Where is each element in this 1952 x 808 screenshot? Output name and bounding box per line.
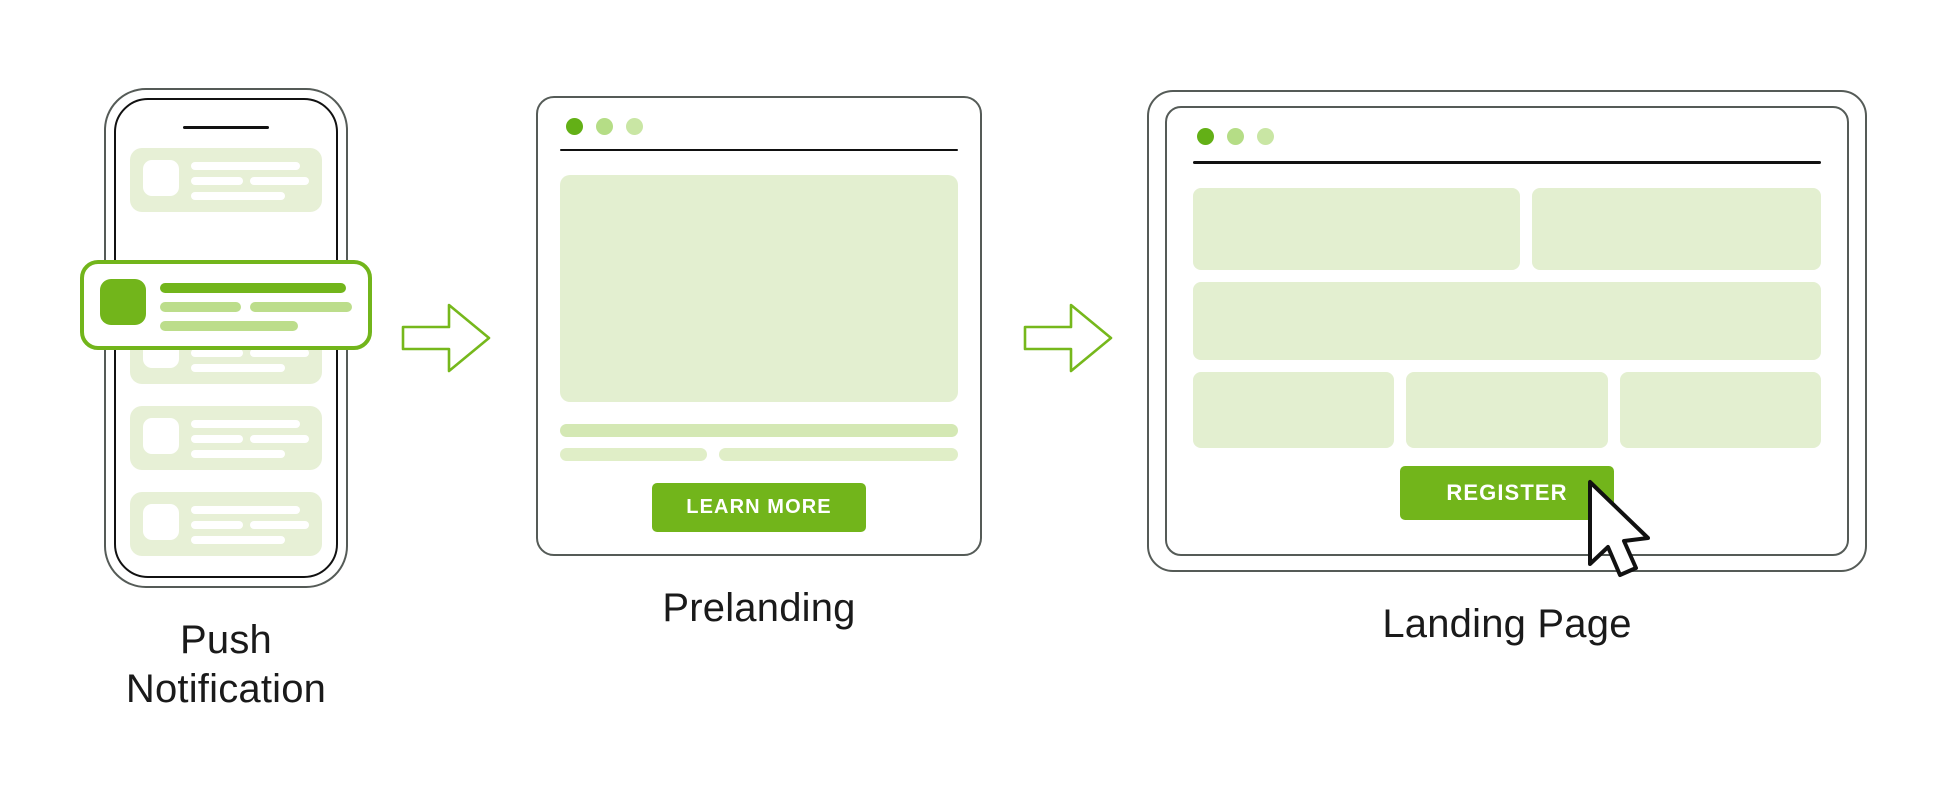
notification-body-line <box>191 536 285 544</box>
arrow-right-icon <box>400 300 492 376</box>
hero-image-placeholder <box>560 175 958 402</box>
funnel-diagram: Push Notification LEA <box>0 0 1952 808</box>
window-dot-icon[interactable] <box>1227 128 1244 145</box>
step-prelanding: LEARN MORE Prelanding <box>536 96 982 633</box>
content-grid <box>1193 188 1821 448</box>
notification-text-lines <box>160 279 352 331</box>
step-landing-page: REGISTER Landing Page <box>1147 90 1867 649</box>
tablet-device: REGISTER <box>1147 90 1867 572</box>
text-line <box>560 448 707 461</box>
window-controls <box>1193 128 1821 145</box>
text-line-row <box>560 448 958 461</box>
body-text-placeholder <box>560 424 958 461</box>
window-dot-icon[interactable] <box>1197 128 1214 145</box>
content-block <box>1193 188 1520 270</box>
notification-title-line <box>191 506 300 514</box>
step-push-notification: Push Notification <box>92 88 360 714</box>
browser-window: LEARN MORE <box>536 96 982 556</box>
content-block <box>1532 188 1821 270</box>
address-bar-rule <box>1193 161 1821 164</box>
notification-line-row <box>191 435 309 443</box>
notification-card[interactable] <box>130 406 322 470</box>
notification-title-line <box>160 283 346 293</box>
notification-body-line <box>191 450 285 458</box>
notification-thumbnail-icon <box>100 279 146 325</box>
notification-text-lines <box>191 160 309 200</box>
text-line <box>560 424 958 437</box>
content-block <box>1193 372 1394 448</box>
register-button[interactable]: REGISTER <box>1400 466 1613 520</box>
notification-body-line <box>191 521 243 529</box>
notification-card[interactable] <box>130 492 322 556</box>
notification-body-line <box>250 302 352 312</box>
notification-title-line <box>191 162 300 170</box>
learn-more-button[interactable]: LEARN MORE <box>652 483 865 532</box>
notification-title-line <box>191 420 300 428</box>
window-dot-icon[interactable] <box>566 118 583 135</box>
notification-body-line <box>160 302 241 312</box>
step-caption-prelanding: Prelanding <box>662 584 855 633</box>
notification-card[interactable] <box>130 148 322 212</box>
window-dot-icon[interactable] <box>596 118 613 135</box>
address-bar-rule <box>560 149 958 151</box>
notification-text-lines <box>191 418 309 458</box>
text-line <box>719 448 958 461</box>
notification-text-lines <box>191 504 309 544</box>
step-caption-landing-page: Landing Page <box>1382 600 1631 649</box>
notification-thumbnail-icon <box>143 418 179 454</box>
content-row <box>1193 188 1821 270</box>
content-block <box>1193 282 1821 360</box>
content-block <box>1620 372 1821 448</box>
notification-body-line <box>191 177 243 185</box>
notification-body-line <box>250 521 309 529</box>
arrow-right-icon <box>1022 300 1114 376</box>
content-row <box>1193 282 1821 360</box>
notification-body-line <box>191 364 285 372</box>
notification-body-line <box>191 192 285 200</box>
cta-row: REGISTER <box>1193 466 1821 520</box>
notification-body-line <box>191 349 243 357</box>
notification-body-line <box>250 349 309 357</box>
window-dot-icon[interactable] <box>626 118 643 135</box>
phone-device <box>92 88 360 588</box>
cta-row: LEARN MORE <box>560 483 958 532</box>
step-caption-push-notification: Push Notification <box>126 616 326 714</box>
notification-thumbnail-icon <box>143 160 179 196</box>
notification-line-row <box>191 521 309 529</box>
notification-line-row <box>191 349 309 357</box>
content-block <box>1406 372 1607 448</box>
phone-speaker-icon <box>183 126 269 129</box>
notification-body-line <box>250 435 309 443</box>
notification-line-row <box>191 177 309 185</box>
highlighted-notification-card[interactable] <box>80 260 372 350</box>
content-row <box>1193 372 1821 448</box>
notification-list <box>116 148 336 556</box>
notification-body-line <box>250 177 309 185</box>
tablet-screen: REGISTER <box>1165 106 1849 556</box>
window-controls <box>560 118 958 135</box>
notification-line-row <box>160 302 352 312</box>
notification-body-line <box>160 321 298 331</box>
window-dot-icon[interactable] <box>1257 128 1274 145</box>
notification-body-line <box>191 435 243 443</box>
notification-thumbnail-icon <box>143 504 179 540</box>
